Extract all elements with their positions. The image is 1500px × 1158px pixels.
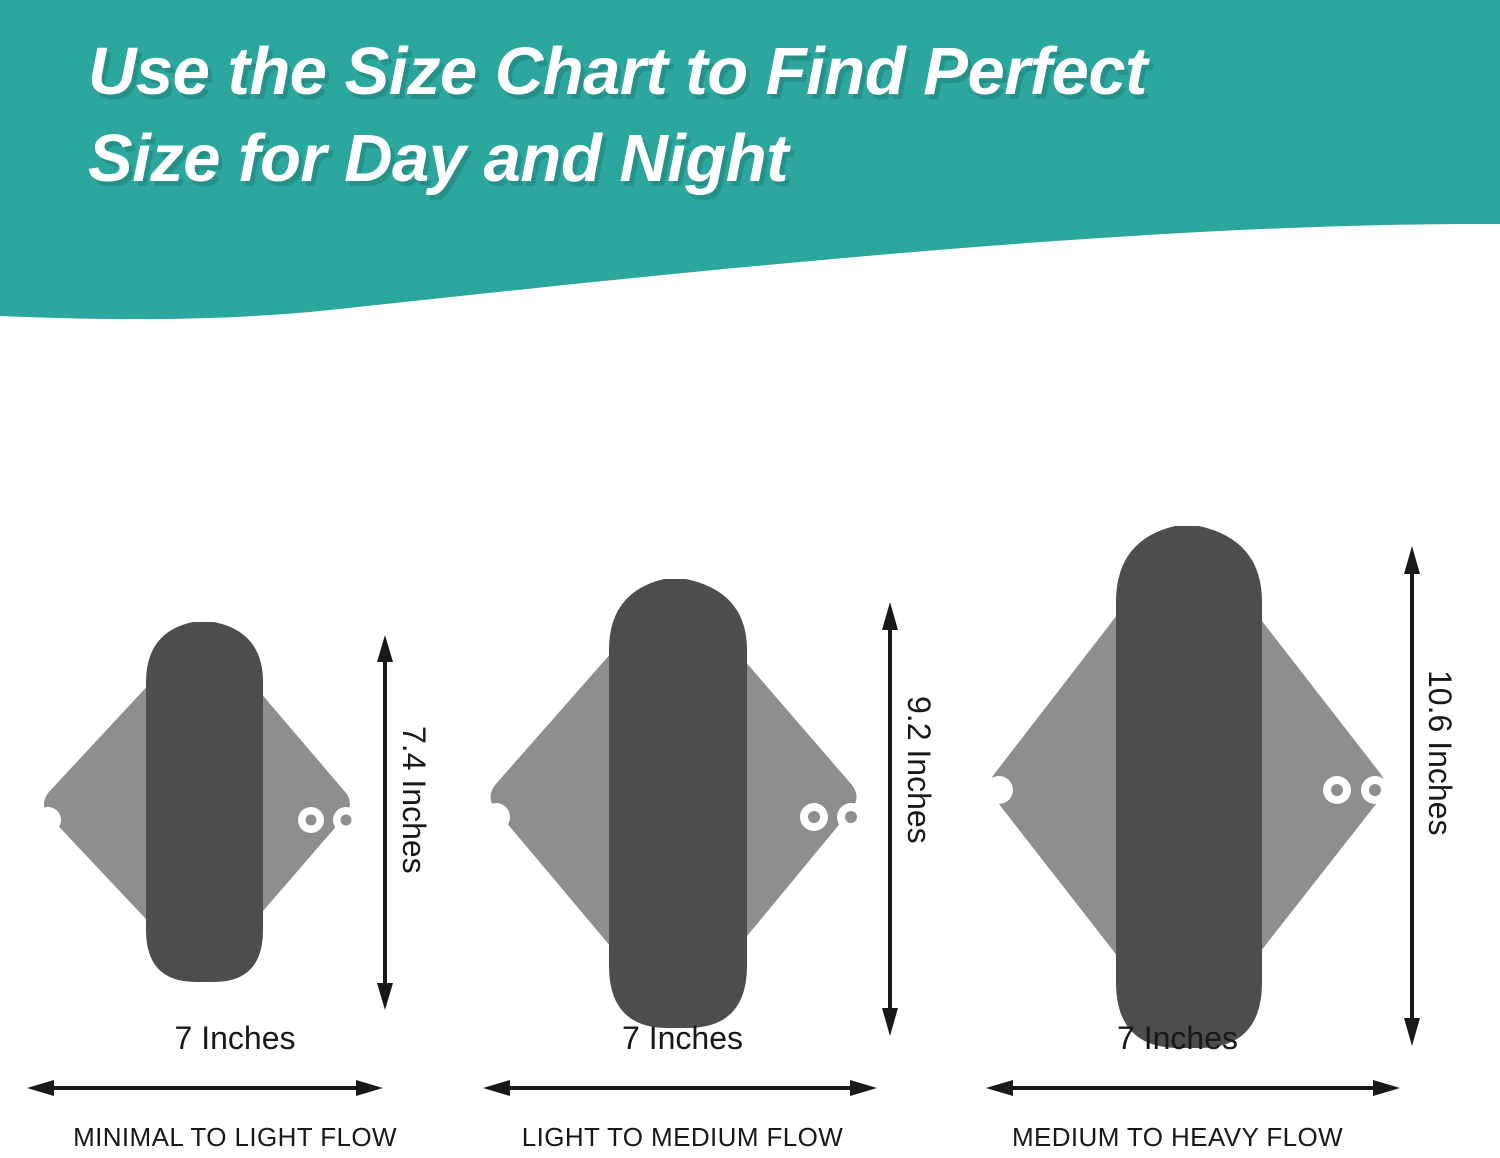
- height-dimension-arrow: [377, 635, 393, 1010]
- snap-hole-icon: [482, 803, 510, 831]
- height-label-light-to-medium: 9.2 Inches: [900, 696, 937, 844]
- width-dimension-arrow: [483, 1080, 877, 1096]
- pads-row: 7.4 Inches 7 Inches MINIMAL TO LIGHT FLO…: [0, 330, 1500, 1158]
- page-title: Use the Size Chart to Find Perfect Size …: [88, 28, 1428, 202]
- width-label-minimal-to-light: 7 Inches: [0, 1020, 470, 1057]
- flow-label-medium-to-heavy: MEDIUM TO HEAVY FLOW: [915, 1122, 1440, 1153]
- height-label-minimal-to-light: 7.4 Inches: [395, 726, 432, 874]
- width-dimension-arrow: [27, 1080, 383, 1096]
- pad-core-medium-to-heavy: [1116, 526, 1262, 1048]
- flow-label-minimal-to-light: MINIMAL TO LIGHT FLOW: [0, 1122, 470, 1153]
- pad-card-minimal-to-light: 7.4 Inches 7 Inches MINIMAL TO LIGHT FLO…: [0, 330, 470, 1158]
- header-banner: Use the Size Chart to Find Perfect Size …: [0, 0, 1500, 330]
- height-label-medium-to-heavy: 10.6 Inches: [1421, 670, 1458, 835]
- width-label-medium-to-heavy: 7 Inches: [915, 1020, 1440, 1057]
- pad-card-light-to-medium: 9.2 Inches 7 Inches LIGHT TO MEDIUM FLOW: [470, 330, 975, 1158]
- flow-label-light-to-medium: LIGHT TO MEDIUM FLOW: [430, 1122, 935, 1153]
- height-dimension-arrow: [882, 602, 898, 1036]
- size-chart-infographic: Use the Size Chart to Find Perfect Size …: [0, 0, 1500, 1158]
- snap-hole-icon: [985, 776, 1013, 804]
- width-label-light-to-medium: 7 Inches: [430, 1020, 935, 1057]
- pad-card-medium-to-heavy: 10.6 Inches 7 Inches MEDIUM TO HEAVY FLO…: [975, 330, 1500, 1158]
- pad-core-light-to-medium: [609, 579, 747, 1028]
- pad-core-minimal-to-light: [146, 622, 263, 982]
- height-dimension-arrow: [1404, 546, 1420, 1046]
- width-dimension-arrow: [986, 1080, 1400, 1096]
- snap-hole-icon: [35, 807, 61, 833]
